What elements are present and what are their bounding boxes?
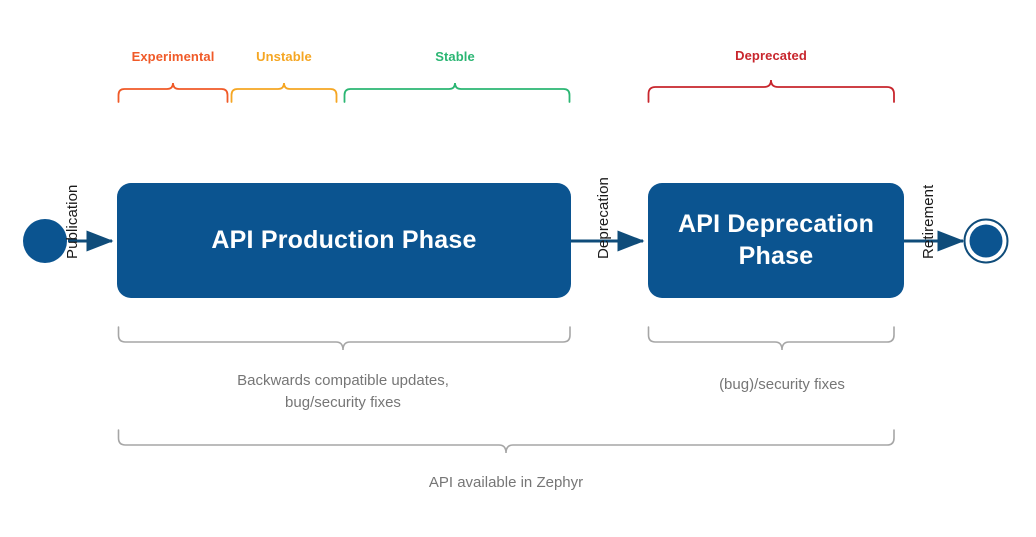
end-node bbox=[965, 220, 1008, 263]
diagram-canvas: API Production Phase API Deprecation Pha… bbox=[0, 0, 1036, 537]
start-node bbox=[23, 219, 67, 263]
bracket-deprecation-support bbox=[649, 327, 895, 350]
transition-label-retirement: Retirement bbox=[920, 185, 937, 259]
bracket-unstable bbox=[232, 83, 337, 102]
bracket-stable bbox=[345, 83, 570, 102]
transition-label-deprecation: Deprecation bbox=[595, 177, 612, 259]
bracket-experimental bbox=[119, 83, 228, 102]
transition-label-publication: Publication bbox=[64, 185, 81, 259]
bracket-production-support bbox=[119, 327, 571, 350]
bracket-caption-production-support: Backwards compatible updates, bug/securi… bbox=[237, 370, 449, 414]
bracket-label-deprecated: Deprecated bbox=[735, 48, 807, 63]
phase-box-deprecation[interactable]: API Deprecation Phase bbox=[648, 183, 904, 298]
bracket-label-experimental: Experimental bbox=[132, 49, 215, 64]
phase-box-production[interactable]: API Production Phase bbox=[117, 183, 571, 298]
bracket-label-stable: Stable bbox=[435, 49, 475, 64]
bracket-deprecated bbox=[649, 80, 895, 102]
bracket-caption-deprecation-support: (bug)/security fixes bbox=[719, 374, 845, 396]
bracket-caption-availability: API available in Zephyr bbox=[429, 472, 583, 494]
bracket-label-unstable: Unstable bbox=[256, 49, 312, 64]
bracket-availability bbox=[119, 430, 895, 453]
